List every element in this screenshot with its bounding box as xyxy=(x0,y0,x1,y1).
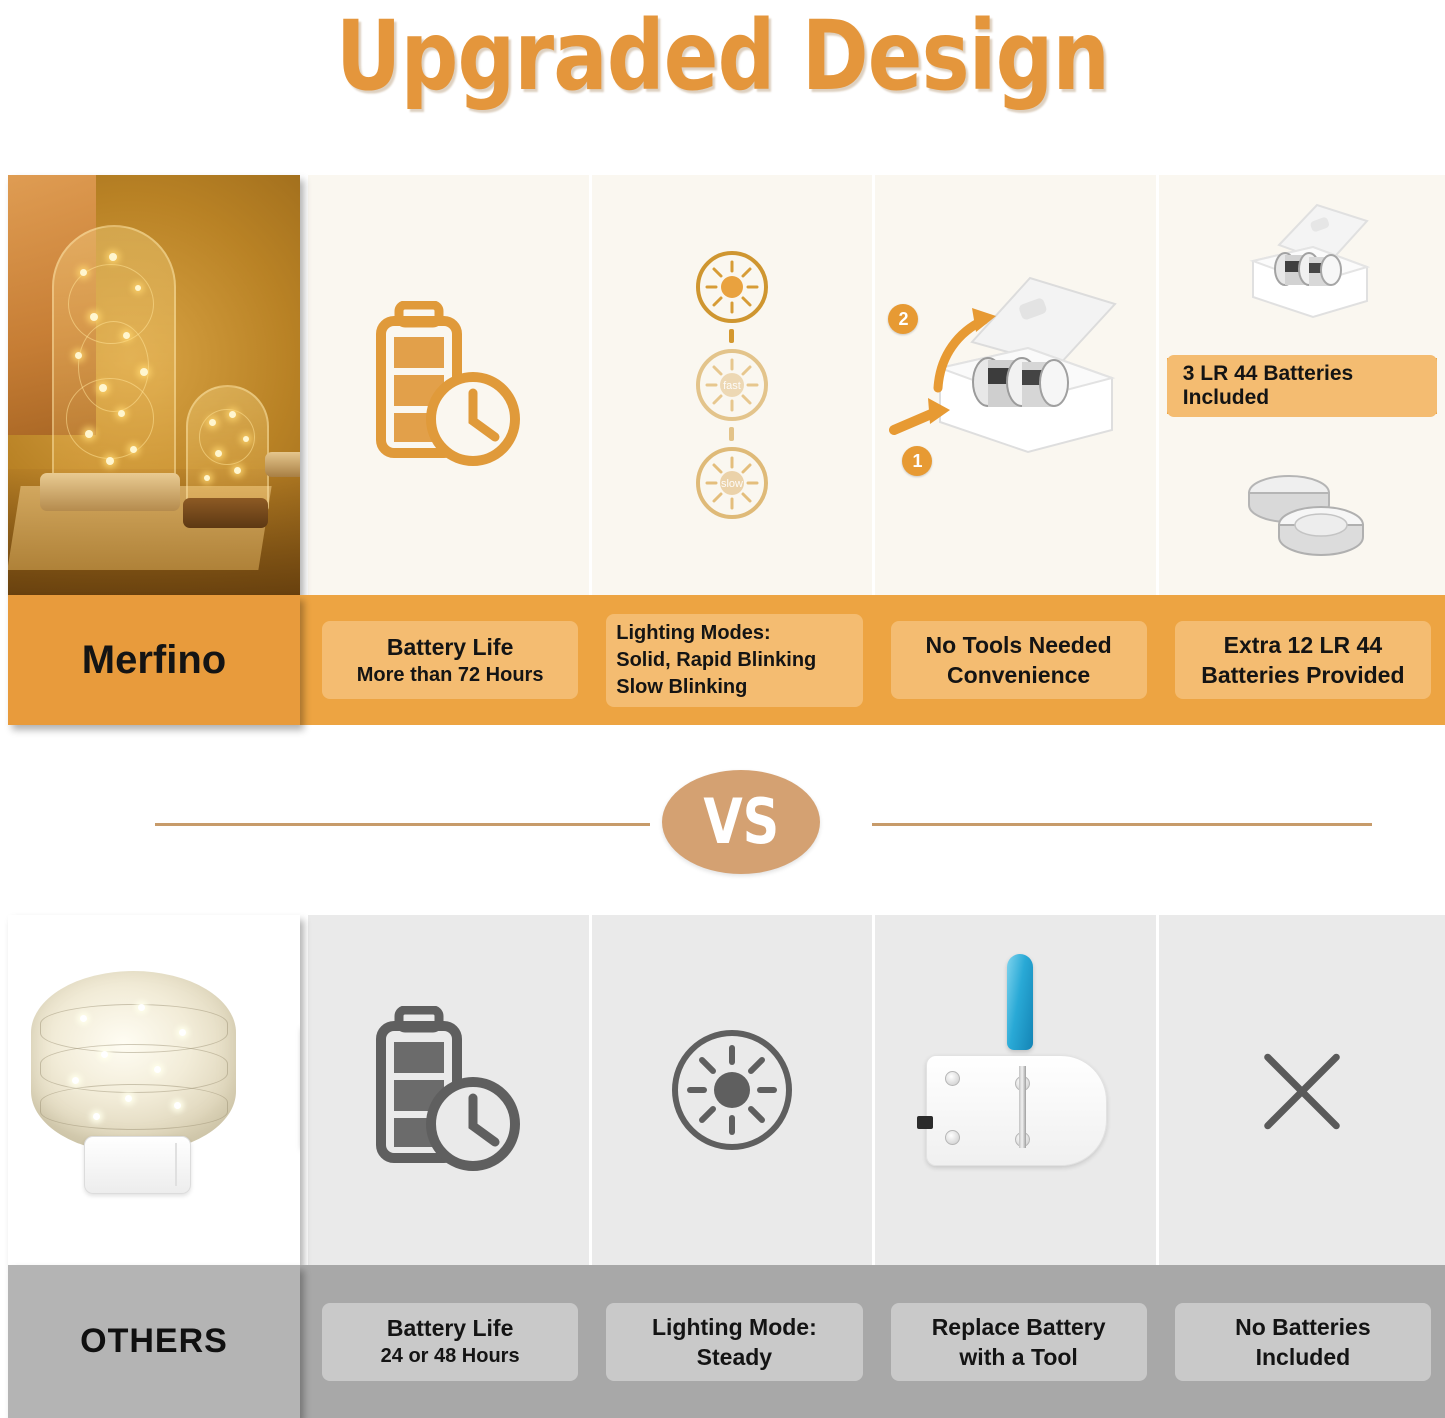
label-line-1: Battery Life xyxy=(387,1313,514,1343)
battery-box-open-icon: 2 1 xyxy=(875,175,1156,595)
battery-clock-icon xyxy=(308,915,589,1265)
sun-connector-tick-2 xyxy=(729,427,734,441)
others-product-photo xyxy=(8,915,300,1265)
page-title: Upgraded Design xyxy=(116,2,1330,110)
others-feature-labels: Battery Life 24 or 48 Hours Lighting Mod… xyxy=(308,1265,1445,1418)
label-line-2: Steady xyxy=(697,1342,772,1372)
merfino-label-battery-life: Battery Life More than 72 Hours xyxy=(322,621,578,699)
merfino-label-extra-batteries: Extra 12 LR 44 Batteries Provided xyxy=(1175,621,1431,699)
merfino-label-bar: Merfino Battery Life More than 72 Hours … xyxy=(8,595,1445,725)
status-badge: 3 LR 44 Batteries Included xyxy=(1167,355,1437,417)
others-label-lighting-mode: Lighting Mode: Steady xyxy=(606,1303,862,1381)
others-panel-replace-battery xyxy=(875,915,1156,1265)
label-line-2: More than 72 Hours xyxy=(357,662,544,689)
screw-icon xyxy=(945,1071,960,1086)
vs-badge: VS xyxy=(662,770,820,874)
label-line-2: Included xyxy=(1256,1342,1351,1372)
case-tab xyxy=(917,1116,933,1129)
fairy-light-coil xyxy=(31,971,235,1153)
brand-name: OTHERS xyxy=(80,1322,228,1361)
battery-case xyxy=(84,1136,191,1194)
merfino-panel-extra-batteries: 3 LR 44 Batteries Included xyxy=(1159,175,1445,595)
battery-box-coin-cells-icon xyxy=(1217,197,1387,342)
loose-coin-cells-icon xyxy=(1217,457,1387,572)
sun-modes-icon: fast slow xyxy=(592,175,873,595)
vs-line-right xyxy=(872,823,1372,826)
sun-fast-label: fast xyxy=(723,380,741,392)
label-line-1: Lighting Mode: xyxy=(652,1312,817,1342)
screw-icon xyxy=(945,1130,960,1145)
others-label-bar: OTHERS Battery Life 24 or 48 Hours Light… xyxy=(8,1265,1445,1418)
vs-label: VS xyxy=(703,791,779,853)
merfino-product-photo xyxy=(8,175,300,595)
label-line-1: Battery Life xyxy=(387,632,514,662)
others-panel-no-batteries xyxy=(1159,915,1445,1265)
others-brand-block: OTHERS xyxy=(8,1265,300,1418)
sun-slow-icon: slow xyxy=(693,444,771,522)
label-line-2: Solid, Rapid Blinking xyxy=(616,647,816,674)
label-line-1: Lighting Modes: xyxy=(616,620,770,647)
others-label-replace-battery: Replace Battery with a Tool xyxy=(891,1303,1147,1381)
others-panel-battery xyxy=(308,915,589,1265)
label-line-1: Replace Battery xyxy=(932,1312,1106,1342)
label-line-1: Extra 12 LR 44 xyxy=(1224,630,1383,660)
others-label-battery-life: Battery Life 24 or 48 Hours xyxy=(322,1303,578,1381)
merfino-label-lighting-modes: Lighting Modes: Solid, Rapid Blinking Sl… xyxy=(606,614,862,707)
sun-fast-icon: fast xyxy=(693,346,771,424)
infographic-page: Upgraded Design xyxy=(0,0,1445,1418)
label-line-3: Slow Blinking xyxy=(616,674,747,701)
screwdriver-battery-case-icon xyxy=(926,1055,1108,1166)
x-mark-icon xyxy=(1159,915,1445,1265)
label-line-1: No Batteries xyxy=(1235,1312,1370,1342)
label-line-1: No Tools Needed xyxy=(926,630,1112,660)
vs-line-left xyxy=(155,823,650,826)
others-panel-lighting-mode xyxy=(592,915,873,1265)
merfino-panel-no-tools: 2 1 xyxy=(875,175,1156,595)
others-panel-row xyxy=(308,915,1445,1265)
battery-clock-icon xyxy=(308,175,589,595)
label-line-2: Batteries Provided xyxy=(1201,660,1404,690)
label-line-2: with a Tool xyxy=(959,1342,1077,1372)
brand-name: Merfino xyxy=(82,638,226,683)
label-line-2: Convenience xyxy=(947,660,1090,690)
merfino-panel-battery xyxy=(308,175,589,595)
label-line-2: 24 or 48 Hours xyxy=(381,1343,520,1370)
merfino-brand-block: Merfino xyxy=(8,595,300,725)
screwdriver-shaft xyxy=(1019,1066,1026,1148)
sun-slow-label: slow xyxy=(721,478,743,490)
merfino-label-no-tools: No Tools Needed Convenience xyxy=(891,621,1147,699)
merfino-panel-row: fast slow xyxy=(308,175,1445,595)
screwdriver-handle-icon xyxy=(1007,954,1033,1050)
others-label-no-batteries: No Batteries Included xyxy=(1175,1303,1431,1381)
merfino-panel-lighting-modes: fast slow xyxy=(592,175,873,595)
sun-steady-icon xyxy=(592,915,873,1265)
sun-connector-tick xyxy=(729,329,734,343)
merfino-feature-labels: Battery Life More than 72 Hours Lighting… xyxy=(308,595,1445,725)
batteries-included-band: 3 LR 44 Batteries Included xyxy=(1167,358,1437,414)
sun-solid-icon xyxy=(693,248,771,326)
